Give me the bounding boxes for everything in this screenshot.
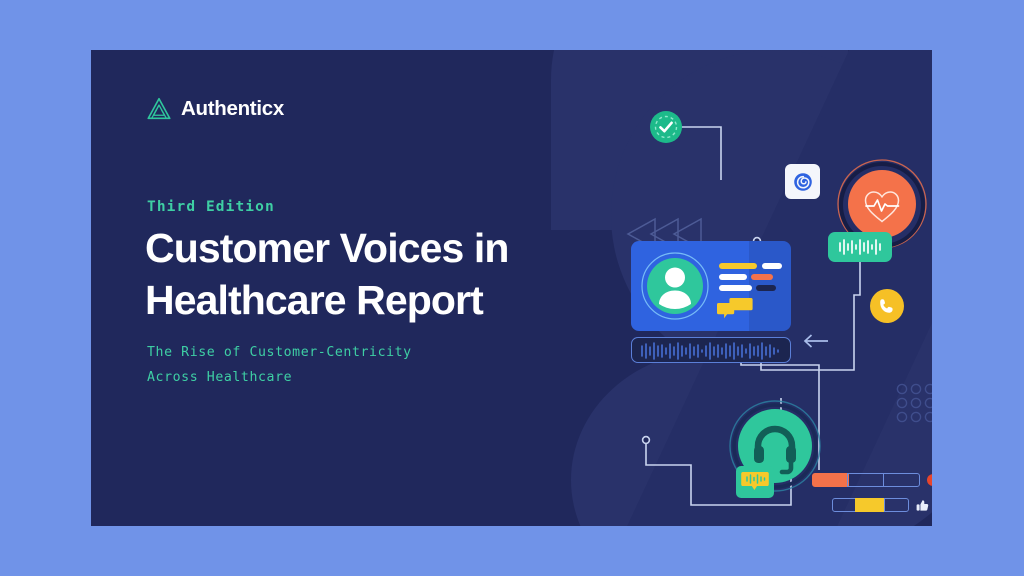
tile-background — [785, 164, 820, 199]
profile-card-body — [631, 241, 791, 331]
text-bar — [762, 263, 782, 269]
text-bar — [751, 274, 773, 280]
text-bar — [756, 285, 776, 291]
arrow-left — [803, 333, 829, 354]
page-subtitle: The Rise of Customer-Centricity Across H… — [147, 340, 477, 390]
status-badge: ! — [927, 474, 932, 486]
meter-segment-filled — [855, 498, 885, 512]
waveform-icon — [632, 338, 791, 363]
user-avatar-icon — [639, 249, 711, 323]
speech-bubble-waveform-icon — [741, 470, 769, 494]
text-bar — [719, 285, 752, 291]
meter-segment — [847, 473, 884, 487]
thumbs-up-icon — [916, 499, 929, 512]
phone-call-circle[interactable] — [870, 289, 904, 323]
spiral-icon — [791, 170, 815, 194]
sentiment-meter-negative[interactable]: ! — [813, 473, 932, 487]
audio-waveform-strip[interactable] — [631, 337, 791, 363]
speech-waveform-tile[interactable] — [736, 466, 774, 498]
dot-grid-icon — [896, 383, 932, 428]
waveform-icon — [837, 238, 883, 256]
sentiment-meter-neutral[interactable] — [833, 498, 929, 512]
meter-segment — [832, 498, 857, 512]
waveform-pill[interactable] — [828, 232, 892, 262]
check-icon — [650, 111, 682, 143]
text-bar — [719, 274, 747, 280]
pill-background — [828, 232, 892, 262]
brand-wordmark: Authenticx — [181, 97, 284, 121]
dot-grid — [896, 383, 932, 433]
subtitle-line-1: The Rise of Customer-Centricity — [147, 340, 477, 365]
tile-background — [736, 466, 774, 498]
speech-bubbles-icon — [717, 297, 753, 321]
verified-check-icon[interactable] — [650, 111, 682, 143]
page-title: Customer Voices in Healthcare Report — [145, 222, 575, 326]
check-circle-icon — [650, 111, 682, 143]
brand-logo[interactable]: Authenticx — [146, 96, 284, 122]
meter-segment-filled — [812, 473, 849, 487]
edition-label: Third Edition — [147, 199, 275, 215]
arrow-left-icon — [803, 333, 829, 349]
text-bar — [719, 263, 757, 269]
spiral-target-tile[interactable] — [785, 164, 820, 199]
meter-segment — [884, 498, 909, 512]
phone-icon — [878, 297, 896, 315]
circle-background — [870, 289, 904, 323]
meter-segment — [883, 473, 920, 487]
customer-profile-card[interactable] — [631, 241, 791, 363]
cover-slide: ! Authenticx Third Edition Custom — [0, 0, 1024, 576]
authenticx-triangle-logo-icon — [146, 96, 172, 122]
subtitle-line-2: Across Healthcare — [147, 365, 477, 390]
